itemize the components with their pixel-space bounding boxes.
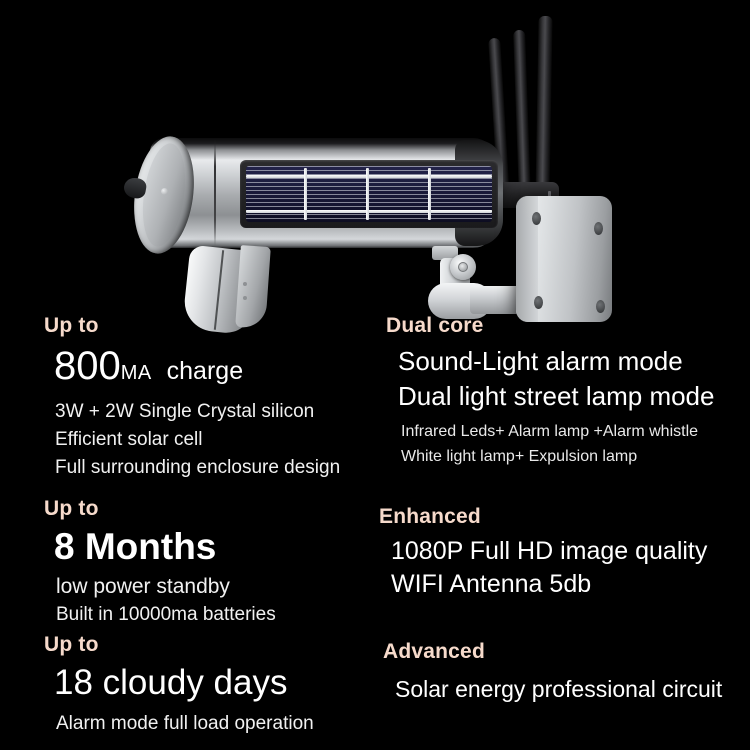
charge-unit: MA xyxy=(121,362,152,384)
standby-value: 8 Months xyxy=(54,526,276,568)
product-illustration xyxy=(0,0,750,330)
feature-advanced: Advanced Solar energy professional circu… xyxy=(383,640,722,703)
charge-eyebrow: Up to xyxy=(44,314,340,338)
feature-charge: Up to 800MA charge 3W + 2W Single Crysta… xyxy=(44,314,340,479)
charge-value: 800 xyxy=(54,344,121,388)
charge-detail-3: Full surrounding enclosure design xyxy=(55,457,340,479)
feature-dual-core: Dual core Sound-Light alarm mode Dual li… xyxy=(386,314,714,466)
standby-eyebrow: Up to xyxy=(44,497,276,521)
antenna-icon xyxy=(513,30,531,198)
enhanced-line-2: WIFI Antenna 5db xyxy=(391,570,707,599)
cloudy-detail-1: Alarm mode full load operation xyxy=(56,713,314,735)
dual-core-detail-2: White light lamp+ Expulsion lamp xyxy=(401,448,714,466)
cloudy-eyebrow: Up to xyxy=(44,633,314,657)
charge-detail-2: Efficient solar cell xyxy=(55,429,340,451)
advanced-eyebrow: Advanced xyxy=(383,640,722,664)
feature-enhanced: Enhanced 1080P Full HD image quality WIF… xyxy=(379,505,707,599)
product-feature-poster: Up to 800MA charge 3W + 2W Single Crysta… xyxy=(0,0,750,750)
dual-core-line-2: Dual light street lamp mode xyxy=(398,381,714,412)
dual-core-eyebrow: Dual core xyxy=(386,314,714,338)
dual-core-detail-1: Infrared Leds+ Alarm lamp +Alarm whistle xyxy=(401,423,714,441)
enhanced-line-1: 1080P Full HD image quality xyxy=(391,537,707,566)
enhanced-eyebrow: Enhanced xyxy=(379,505,707,529)
cap-screw-icon xyxy=(161,188,168,195)
pivot-knob-icon xyxy=(450,254,476,280)
feature-standby: Up to 8 Months low power standby Built i… xyxy=(44,497,276,626)
antenna-icon xyxy=(535,16,552,201)
solar-panel xyxy=(246,166,492,222)
standby-detail-2: Built in 10000ma batteries xyxy=(56,604,276,626)
dual-core-line-1: Sound-Light alarm mode xyxy=(398,346,714,377)
standby-detail-1: low power standby xyxy=(56,575,276,599)
cloudy-value: 18 cloudy days xyxy=(54,663,314,703)
advanced-line-1: Solar energy professional circuit xyxy=(395,676,722,703)
charge-suffix: charge xyxy=(167,357,243,385)
barrel-seam xyxy=(214,140,216,246)
charge-detail-1: 3W + 2W Single Crystal silicon xyxy=(55,401,340,423)
feature-cloudy: Up to 18 cloudy days Alarm mode full loa… xyxy=(44,633,314,735)
charge-value-row: 800MA charge xyxy=(54,344,340,389)
